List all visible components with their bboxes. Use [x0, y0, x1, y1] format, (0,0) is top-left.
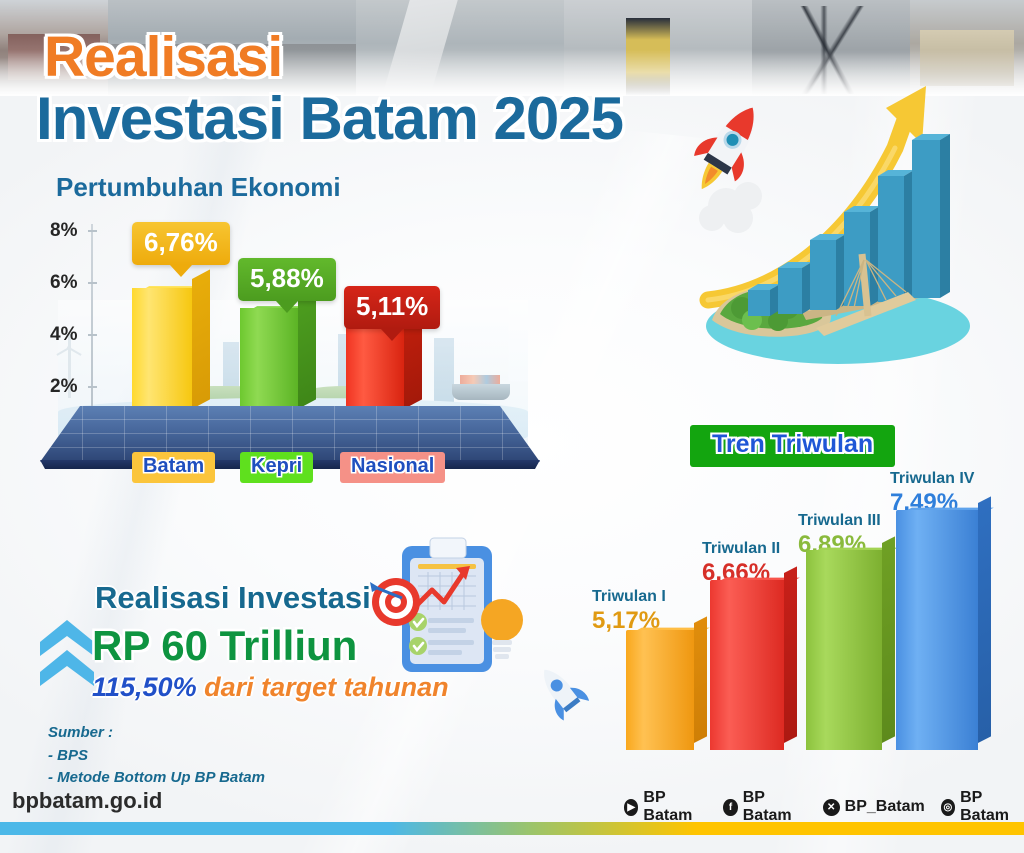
- title-line-2: Investasi Batam 2025: [36, 84, 623, 153]
- callout-batam: 6,76%: [132, 222, 230, 265]
- bar-triwulan-3: [806, 550, 882, 750]
- title-line-1: Realisasi: [44, 24, 282, 90]
- quarter-name-3: Triwulan III: [798, 512, 881, 530]
- mini-rocket-svg: [532, 660, 590, 722]
- social-media-list: ▶ BP Batam f BP Batam ✕ BP_Batam ◎ BP Ba…: [624, 789, 1024, 825]
- growth-section-heading: Pertumbuhan Ekonomi: [56, 172, 341, 203]
- source-title: Sumber :: [48, 722, 265, 745]
- tren-triwulan-badge: Tren Triwulan: [690, 425, 895, 467]
- bar-kepri-side: [298, 289, 316, 409]
- quarter-bar-chart: Triwulan I 5,17% Triwulan II 6,66% Triwu…: [590, 470, 1020, 780]
- cargo-ship-icon: [452, 384, 510, 400]
- scenery-building: [434, 338, 454, 404]
- facebook-icon: f: [723, 799, 737, 816]
- category-label-kepri: Kepri: [240, 452, 313, 483]
- category-label-nasional: Nasional: [340, 452, 445, 483]
- quarter-name-2: Triwulan II: [702, 540, 780, 558]
- clipboard-svg: [368, 536, 528, 686]
- callout-tail: [276, 301, 298, 313]
- social-youtube[interactable]: ▶ BP Batam: [624, 789, 707, 825]
- bar-triwulan-4-front: [896, 510, 978, 750]
- y-axis-tick: [88, 230, 97, 232]
- y-axis-label-4: 4%: [50, 324, 77, 346]
- hero-svg: [690, 78, 1024, 408]
- bar-triwulan-2-front: [710, 580, 784, 750]
- y-axis-line: [91, 224, 93, 424]
- y-axis-label-2: 2%: [50, 376, 77, 398]
- social-youtube-label: BP Batam: [643, 789, 707, 825]
- bar-kepri: [240, 308, 298, 418]
- bar-triwulan-3-side: [882, 536, 895, 743]
- source-line-2: - Metode Bottom Up BP Batam: [48, 767, 265, 790]
- clipboard-target-illustration: [368, 536, 528, 686]
- mini-rocket-icon: [532, 660, 590, 722]
- infographic-poster: Realisasi Investasi Batam 2025: [0, 0, 1024, 853]
- y-axis-label-6: 6%: [50, 272, 77, 294]
- bottom-color-strip: [0, 822, 1024, 835]
- bar-kepri-front: [240, 308, 298, 418]
- bar-triwulan-1-front: [626, 630, 694, 750]
- callout-tail: [381, 329, 403, 341]
- bar-triwulan-4-side: [978, 496, 991, 743]
- x-twitter-icon: ✕: [823, 799, 840, 816]
- callout-tail: [170, 265, 192, 277]
- bar-batam-side: [192, 269, 210, 409]
- investment-percent: 115,50%: [92, 672, 197, 702]
- y-axis-tick: [88, 282, 97, 284]
- y-axis-tick: [88, 334, 97, 336]
- source-note: Sumber : - BPS - Metode Bottom Up BP Bat…: [48, 722, 265, 790]
- bar-triwulan-3-front: [806, 550, 882, 750]
- chevron-up-svg: [36, 618, 98, 690]
- category-label-batam: Batam: [132, 452, 215, 483]
- social-instagram-label: BP Batam: [960, 789, 1024, 825]
- double-chevron-up-icon: [36, 618, 98, 690]
- investment-heading: Realisasi Investasi: [95, 580, 371, 616]
- growth-bar-chart: 8% 6% 4% 2%: [28, 210, 548, 490]
- quarter-name-4: Triwulan IV: [890, 470, 974, 488]
- growth-illustration: [690, 78, 1024, 408]
- bar-triwulan-1-side: [694, 616, 707, 743]
- quarter-name-1: Triwulan I: [592, 588, 666, 606]
- social-x-twitter[interactable]: ✕ BP_Batam: [823, 798, 925, 816]
- youtube-icon: ▶: [624, 799, 638, 816]
- investment-amount: RP 60 Trilliun: [92, 622, 357, 670]
- bar-triwulan-2: [710, 580, 784, 750]
- y-axis-label-8: 8%: [50, 220, 77, 242]
- social-x-twitter-label: BP_Batam: [845, 798, 925, 816]
- social-facebook[interactable]: f BP Batam: [723, 789, 806, 825]
- callout-kepri: 5,88%: [238, 258, 336, 301]
- social-instagram[interactable]: ◎ BP Batam: [941, 789, 1024, 825]
- y-axis-tick: [88, 386, 97, 388]
- bar-triwulan-1: [626, 630, 694, 750]
- callout-nasional: 5,11%: [344, 286, 440, 329]
- bar-batam: [132, 288, 192, 418]
- social-facebook-label: BP Batam: [743, 789, 807, 825]
- source-line-1: - BPS: [48, 745, 265, 768]
- bar-triwulan-2-side: [784, 566, 797, 743]
- bar-batam-front: [132, 288, 192, 418]
- website-url[interactable]: bpbatam.go.id: [12, 788, 162, 814]
- instagram-icon: ◎: [941, 799, 955, 816]
- bar-triwulan-4: [896, 510, 978, 750]
